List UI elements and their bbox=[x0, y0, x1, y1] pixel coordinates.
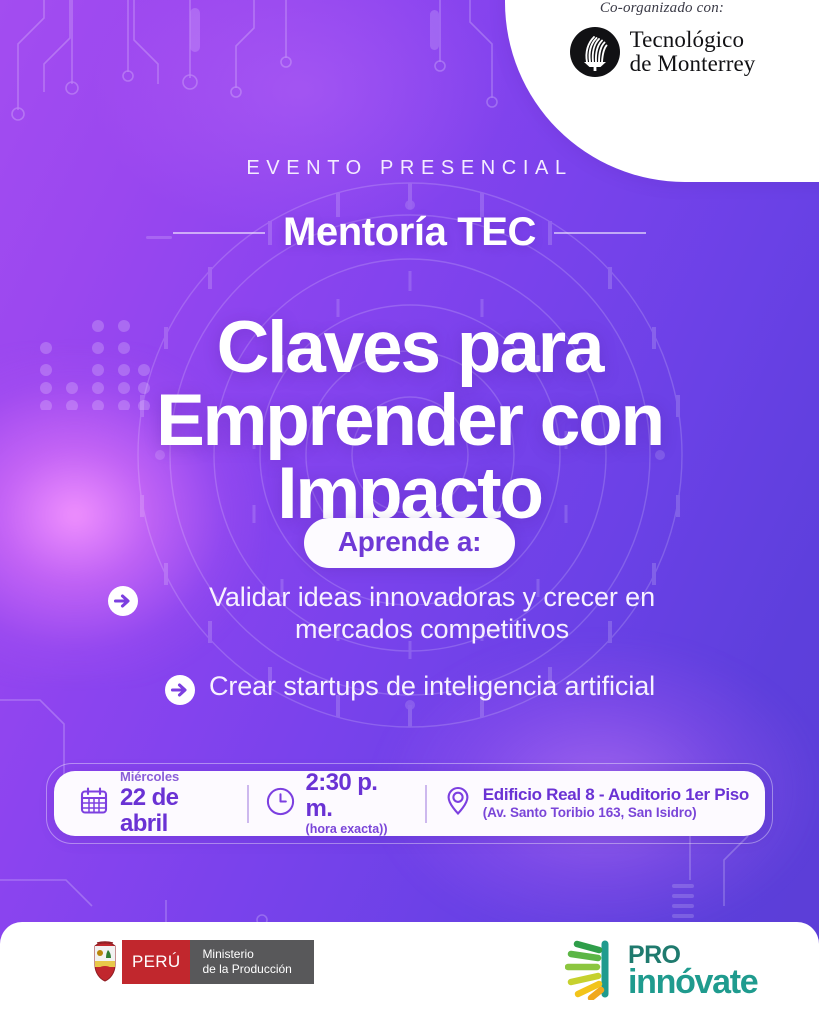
date-day: 22 de abril bbox=[120, 785, 231, 838]
info-place: Edificio Real 8 - Auditorio 1er Piso (Av… bbox=[427, 785, 765, 822]
bullet-text: Validar ideas innovadoras y crecer en me… bbox=[152, 582, 712, 645]
peru-country-label: PERÚ bbox=[132, 952, 180, 972]
map-pin-icon bbox=[443, 785, 473, 822]
rule-left bbox=[173, 232, 265, 234]
subtitle-row: Mentoría TEC bbox=[0, 210, 819, 255]
peru-ministry-logo: PERÚ Ministerio de la Producción bbox=[88, 940, 314, 984]
rule-right bbox=[554, 232, 646, 234]
learn-bullets: Validar ideas innovadoras y crecer en me… bbox=[56, 582, 763, 711]
place-venue: Edificio Real 8 - Auditorio 1er Piso bbox=[483, 785, 749, 805]
footer: PERÚ Ministerio de la Producción bbox=[0, 922, 819, 1024]
subtitle: Mentoría TEC bbox=[283, 210, 536, 255]
arrow-circle-right-icon bbox=[107, 585, 139, 622]
learn-pill: Aprende a: bbox=[304, 518, 515, 568]
info-date: Miércoles 22 de abril bbox=[54, 770, 247, 838]
calendar-icon bbox=[78, 785, 110, 822]
peru-coat-of-arms-icon bbox=[88, 940, 122, 984]
place-address: (Av. Santo Toribio 163, San Isidro) bbox=[483, 805, 749, 822]
event-poster: Co-organizado con: Tecn bbox=[0, 0, 819, 1024]
poster-content: EVENTO PRESENCIAL Mentoría TEC Claves pa… bbox=[0, 0, 819, 1024]
ministry-block: Ministerio de la Producción bbox=[190, 940, 314, 984]
proinnovate-bottom: innóvate bbox=[628, 967, 757, 998]
title-line-1: Claves para bbox=[0, 311, 819, 384]
clock-icon bbox=[265, 786, 296, 822]
bullet-text: Crear startups de inteligencia artificia… bbox=[209, 671, 655, 703]
learn-pill-wrapper: Aprende a: bbox=[0, 518, 819, 568]
eyebrow-text: EVENTO PRESENCIAL bbox=[0, 157, 819, 180]
date-weekday: Miércoles bbox=[120, 770, 231, 785]
page-title: Claves para Emprender con Impacto bbox=[0, 311, 819, 530]
title-line-2: Emprender con bbox=[0, 384, 819, 457]
time-note: (hora exacta)) bbox=[306, 822, 410, 837]
info-time: 2:30 p. m. (hora exacta)) bbox=[249, 770, 426, 838]
ministry-line-1: Ministerio bbox=[202, 947, 291, 962]
proinnovate-logo: PRO innóvate bbox=[565, 938, 757, 1005]
list-item: Crear startups de inteligencia artificia… bbox=[56, 671, 763, 711]
time-value: 2:30 p. m. bbox=[306, 770, 410, 823]
ministry-line-2: de la Producción bbox=[202, 962, 291, 977]
proinnovate-starburst-icon bbox=[565, 938, 623, 1005]
list-item: Validar ideas innovadoras y crecer en me… bbox=[56, 582, 763, 645]
arrow-circle-right-icon bbox=[164, 674, 196, 711]
peru-country-block: PERÚ bbox=[122, 940, 190, 984]
info-bar: Miércoles 22 de abril 2:30 p. m. (hora e… bbox=[54, 771, 765, 836]
